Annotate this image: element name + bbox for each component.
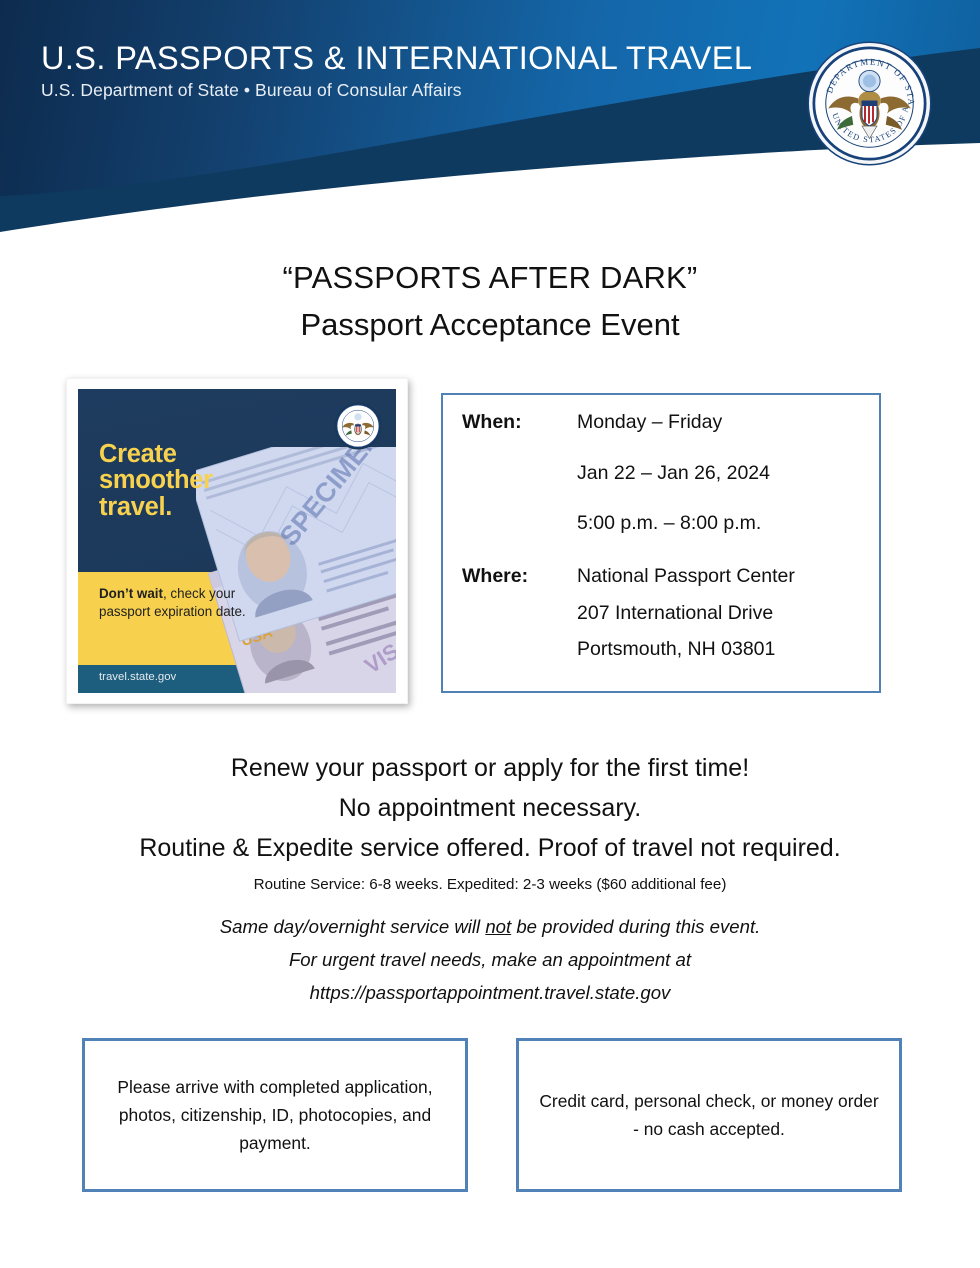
- when-row-2: Jan 22 – Jan 26, 2024: [462, 462, 770, 485]
- italic-line-1-underline: not: [485, 916, 511, 937]
- when-value-days: Monday – Friday: [577, 411, 722, 434]
- banner-subtitle: U.S. Department of State • Bureau of Con…: [41, 80, 752, 101]
- promo-headline-line2: smoother: [99, 467, 213, 493]
- italic-notice-group: Same day/overnight service will not be p…: [0, 910, 980, 1009]
- when-spacer-2: [462, 512, 577, 535]
- where-value-street: 207 International Drive: [577, 602, 773, 625]
- when-row-1: When: Monday – Friday: [462, 411, 722, 434]
- promo-headline-line3: travel.: [99, 494, 213, 520]
- body-line-3: Routine & Expedite service offered. Proo…: [0, 828, 980, 868]
- body-line-1: Renew your passport or apply for the fir…: [0, 748, 980, 788]
- where-spacer-2: [462, 638, 577, 661]
- promo-url: travel.state.gov: [99, 671, 176, 683]
- promo-headline-line1: Create: [99, 441, 213, 467]
- when-value-hours: 5:00 p.m. – 8:00 p.m.: [577, 512, 761, 535]
- page-title: “PASSPORTS AFTER DARK”: [0, 258, 980, 298]
- promo-image: USA VISA: [78, 389, 396, 693]
- italic-line-1-post: be provided during this event.: [511, 916, 760, 937]
- promo-headline: Create smoother travel.: [99, 441, 213, 520]
- payment-text: Credit card, personal check, or money or…: [519, 1087, 899, 1143]
- italic-line-2: For urgent travel needs, make an appoint…: [0, 943, 980, 976]
- department-of-state-seal-icon: DEPARTMENT OF STATE UNITED STATES OF AME…: [807, 41, 932, 166]
- header-banner: U.S. PASSPORTS & INTERNATIONAL TRAVEL U.…: [0, 0, 980, 232]
- where-value-city: Portsmouth, NH 03801: [577, 638, 775, 661]
- where-row-1: Where: National Passport Center: [462, 565, 795, 588]
- when-value-dates: Jan 22 – Jan 26, 2024: [577, 462, 770, 485]
- page-subtitle: Passport Acceptance Event: [0, 305, 980, 346]
- promo-cta-text: Don’t wait, check your passport expirati…: [99, 585, 274, 621]
- where-label: Where:: [462, 565, 577, 588]
- page-title-group: “PASSPORTS AFTER DARK” Passport Acceptan…: [0, 258, 980, 346]
- italic-line-1-pre: Same day/overnight service will: [220, 916, 486, 937]
- service-times-note: Routine Service: 6-8 weeks. Expedited: 2…: [0, 876, 980, 893]
- where-row-3: Portsmouth, NH 03801: [462, 638, 775, 661]
- appointment-url[interactable]: https://passportappointment.travel.state…: [0, 976, 980, 1009]
- passport-booklet-illustration: USA VISA: [196, 447, 396, 693]
- italic-line-1: Same day/overnight service will not be p…: [0, 910, 980, 943]
- when-spacer-1: [462, 462, 577, 485]
- promo-image-frame: USA VISA: [66, 378, 408, 704]
- where-value-venue: National Passport Center: [577, 565, 795, 588]
- promo-cta-bold: Don’t wait: [99, 586, 163, 601]
- where-row-2: 207 International Drive: [462, 602, 773, 625]
- event-details-box: When: Monday – Friday Jan 22 – Jan 26, 2…: [441, 393, 881, 693]
- body-text-group: Renew your passport or apply for the fir…: [0, 748, 980, 868]
- where-spacer-1: [462, 602, 577, 625]
- requirements-text: Please arrive with completed application…: [85, 1073, 465, 1158]
- when-label: When:: [462, 411, 577, 434]
- requirements-box: Please arrive with completed application…: [82, 1038, 468, 1192]
- department-of-state-seal-icon: [334, 402, 382, 450]
- banner-title: U.S. PASSPORTS & INTERNATIONAL TRAVEL: [41, 40, 752, 76]
- when-row-3: 5:00 p.m. – 8:00 p.m.: [462, 512, 761, 535]
- banner-text-group: U.S. PASSPORTS & INTERNATIONAL TRAVEL U.…: [41, 40, 752, 101]
- body-line-2: No appointment necessary.: [0, 788, 980, 828]
- payment-box: Credit card, personal check, or money or…: [516, 1038, 902, 1192]
